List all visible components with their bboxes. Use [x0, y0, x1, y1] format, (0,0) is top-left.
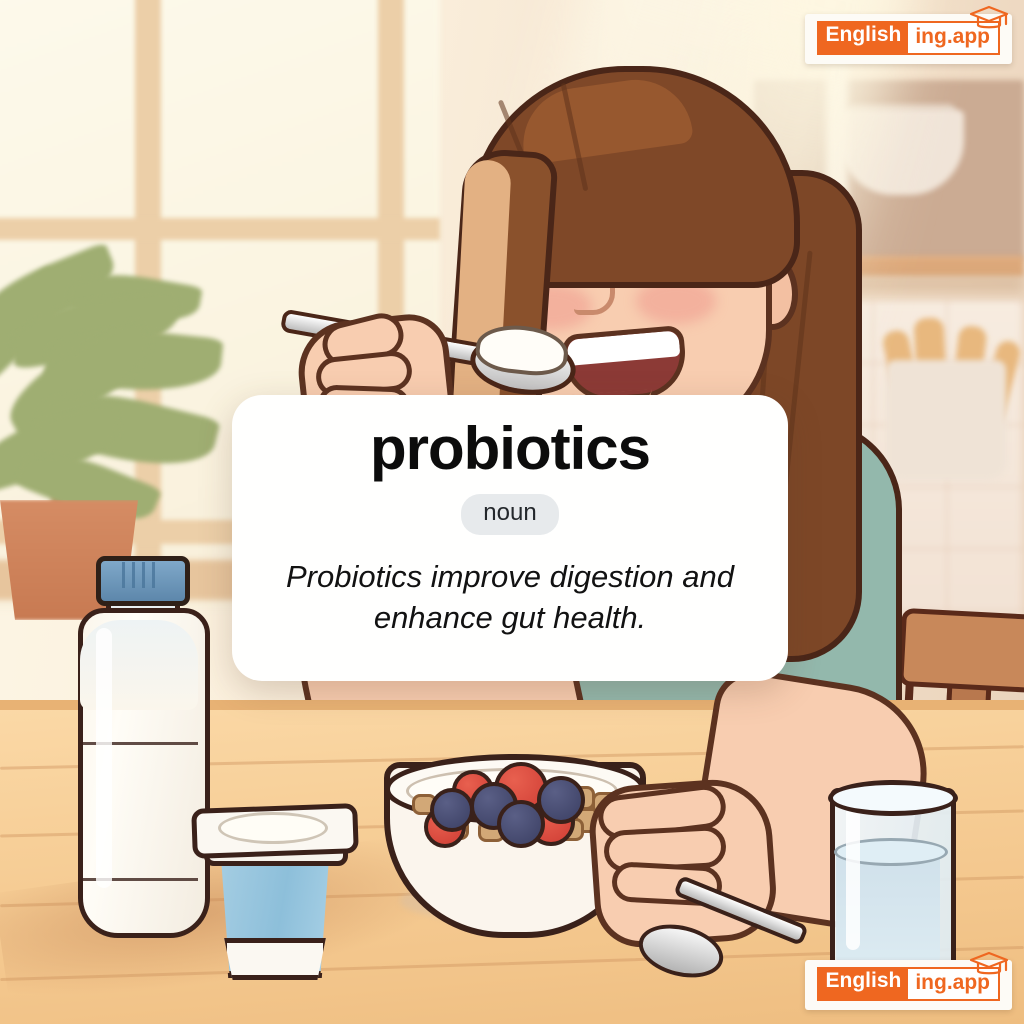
graduation-cap-icon: [969, 5, 1009, 31]
part-of-speech-badge: noun: [461, 494, 558, 535]
teeth: [567, 330, 681, 366]
logo-inner: English ing.app: [817, 21, 1000, 55]
cap-ridge: [142, 562, 145, 588]
water-glass-rim: [828, 780, 958, 816]
graduation-cap-icon: [969, 951, 1009, 977]
logo-inner: English ing.app: [817, 967, 1000, 1001]
logo-text-english: English: [817, 21, 908, 55]
vocabulary-card-scene: probiotics noun Probiotics improve diges…: [0, 0, 1024, 1024]
cap-ridge: [122, 562, 125, 588]
cap-ridge: [152, 562, 155, 588]
watermark-logo-top[interactable]: English ing.app: [805, 14, 1012, 64]
yogurt-cup-base: [222, 938, 328, 980]
chair-back: [898, 608, 1024, 694]
glass-highlight: [846, 800, 860, 950]
blueberry: [537, 776, 585, 824]
definition-card: probiotics noun Probiotics improve diges…: [232, 395, 788, 681]
window-mullion-horizontal-top: [0, 218, 440, 240]
definition-sentence: Probiotics improve digestion and enhance…: [265, 557, 755, 639]
cap-ridge: [132, 562, 135, 588]
utensil-crock: [886, 360, 1006, 480]
milk-bottle-highlight: [96, 628, 112, 888]
watermark-logo-bottom[interactable]: English ing.app: [805, 960, 1012, 1010]
yogurt-in-cup: [218, 812, 328, 844]
blueberry: [430, 788, 474, 832]
vocabulary-word: probiotics: [370, 417, 650, 480]
logo-text-english: English: [817, 967, 908, 1001]
